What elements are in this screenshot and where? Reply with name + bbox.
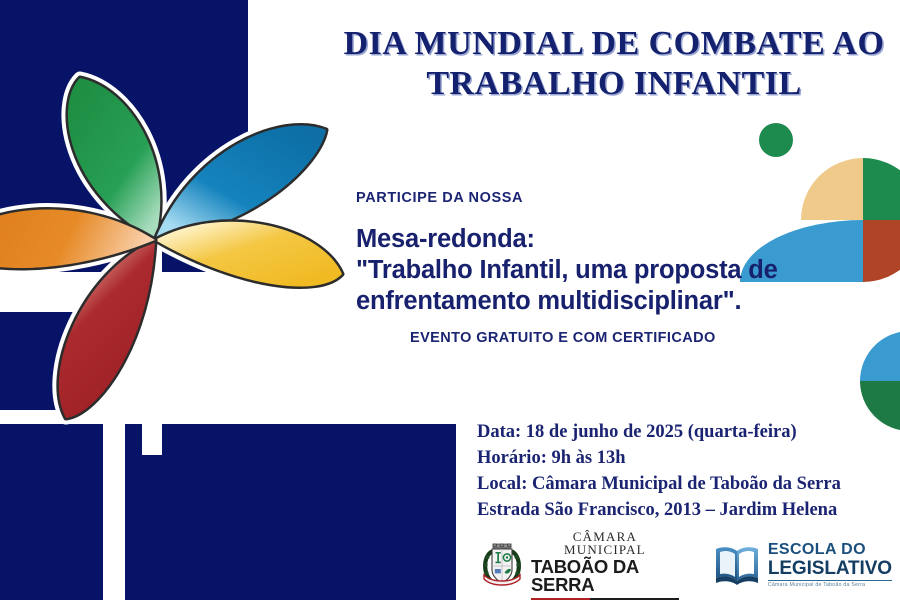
detail-date: Data: 18 de junho de 2025 (quarta-feira)	[477, 420, 841, 446]
deco-green-dot	[759, 123, 793, 157]
camara-bottom-text: TABOÃO DA SERRA	[531, 558, 679, 595]
logo-escola-do-legislativo: ESCOLA DO LEGISLATIVO Câmara Municipal d…	[713, 542, 892, 589]
detail-time: Horário: 9h às 13h	[477, 446, 841, 472]
headline-line-1: Mesa-redonda:	[356, 224, 856, 255]
deco-quadrant-green	[863, 158, 900, 220]
free-event-note: EVENTO GRATUITO E COM CERTIFICADO	[410, 330, 856, 346]
detail-address: Estrada São Francisco, 2013 – Jardim Hel…	[477, 498, 841, 524]
headline-block: PARTICIPE DA NOSSA Mesa-redonda: "Trabal…	[356, 190, 856, 346]
escola-wordmark: ESCOLA DO LEGISLATIVO Câmara Municipal d…	[768, 542, 892, 589]
detail-venue: Local: Câmara Municipal de Taboão da Ser…	[477, 472, 841, 498]
deco-quadrant-rust	[863, 220, 900, 282]
title-line-1: DIA MUNDIAL DE COMBATE AO	[330, 24, 898, 64]
coat-of-arms-icon	[480, 542, 524, 588]
open-book-icon	[713, 543, 761, 587]
camara-top-text: CÂMARA MUNICIPAL	[531, 530, 679, 556]
escola-line-2: LEGISLATIVO	[768, 559, 892, 578]
poster-canvas: DIA MUNDIAL DE COMBATE AO TRABALHO INFAN…	[0, 0, 900, 600]
headline-line-3: enfrentamento multidisciplinar".	[356, 286, 856, 317]
escola-rule	[768, 580, 892, 582]
deco-half-blue	[860, 331, 900, 381]
logo-camara-municipal: CÂMARA MUNICIPAL TABOÃO DA SERRA	[480, 530, 679, 600]
title-line-2: TRABALHO INFANTIL	[330, 64, 898, 104]
escola-line-1: ESCOLA DO	[768, 542, 892, 558]
headline-line-2: "Trabalho Infantil, uma proposta de	[356, 255, 856, 286]
kicker-text: PARTICIPE DA NOSSA	[356, 190, 856, 206]
pinwheel-illustration	[0, 52, 370, 452]
petal-yellow	[155, 222, 342, 287]
page-title: DIA MUNDIAL DE COMBATE AO TRABALHO INFAN…	[330, 24, 898, 104]
camara-wordmark: CÂMARA MUNICIPAL TABOÃO DA SERRA	[531, 530, 679, 600]
logo-row: CÂMARA MUNICIPAL TABOÃO DA SERRA	[480, 536, 892, 594]
deco-half-green	[860, 381, 900, 431]
escola-line-3: Câmara Municipal de Taboão da Serra	[768, 583, 892, 588]
event-details: Data: 18 de junho de 2025 (quarta-feira)…	[477, 420, 841, 524]
